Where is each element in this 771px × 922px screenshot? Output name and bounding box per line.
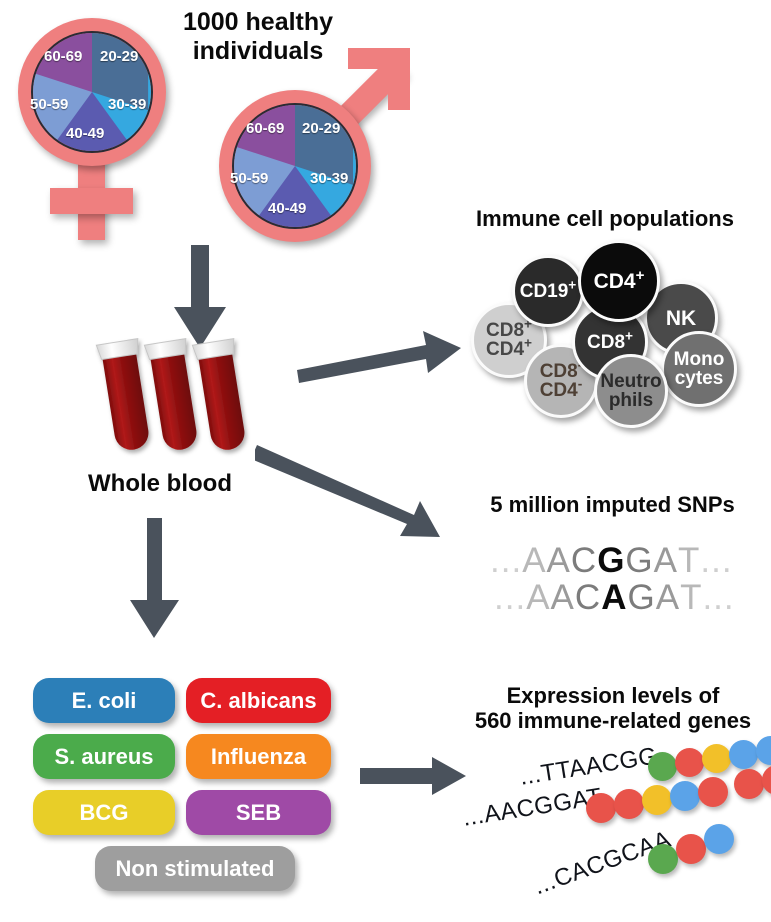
female-symbol: 20-29 30-39 40-49 50-59 60-69 [8, 10, 198, 240]
age-label-20-29: 20-29 [100, 48, 138, 65]
whole-blood-label: Whole blood [60, 470, 260, 498]
snp-base: A [656, 578, 680, 618]
snp-base: A [522, 541, 546, 581]
age-label-60-69: 60-69 [44, 48, 82, 65]
snp-base: A [551, 578, 575, 618]
snp-variant-base: G [597, 541, 625, 581]
immune-title: Immune cell populations [455, 206, 755, 231]
immune-cell-neutrophils: Neutrophils [594, 354, 668, 428]
stimulus-influenza[interactable]: Influenza [186, 734, 331, 779]
arrow-stimuli-to-genes [360, 755, 470, 797]
immune-cell-label: Monocytes [674, 350, 725, 388]
age-label-50-59: 50-59 [230, 170, 268, 187]
immune-cell-label: CD19+ [520, 282, 577, 301]
stimulus-label: SEB [236, 800, 281, 826]
snp-base: T [680, 578, 702, 618]
snp-variant-base: A [601, 578, 627, 618]
stimulus-s-aureus[interactable]: S. aureus [33, 734, 175, 779]
immune-cell-monocytes: Monocytes [661, 331, 737, 407]
snp-base: A [547, 541, 571, 581]
immune-cell-label: CD4+ [594, 271, 645, 292]
age-label-20-29: 20-29 [302, 120, 340, 137]
expression-title: Expression levels of 560 immune-related … [463, 683, 763, 734]
snp-base: ... [702, 578, 734, 618]
gene-dot [614, 789, 644, 819]
figure-canvas: 1000 healthy individuals 20-29 30-39 40-… [0, 0, 771, 922]
snp-base: G [627, 578, 655, 618]
snp-base: A [654, 541, 678, 581]
immune-cell-label: CD8+ [587, 333, 633, 352]
gene-sequence: ...AACGGAT [461, 783, 604, 833]
stimulus-label: BCG [80, 800, 129, 826]
stimulus-label: E. coli [72, 688, 137, 714]
male-symbol: 20-29 30-39 40-49 50-59 60-69 [196, 40, 416, 255]
gene-dot [734, 769, 764, 799]
age-label-40-49: 40-49 [268, 200, 306, 217]
venus-crossbar [50, 188, 133, 214]
gene-dot [670, 781, 700, 811]
snp-base: ... [494, 578, 526, 618]
age-label-50-59: 50-59 [30, 96, 68, 113]
immune-cell-label: NK [666, 308, 696, 329]
stimulus-label: Influenza [211, 744, 306, 770]
snp-title: 5 million imputed SNPs [470, 492, 755, 517]
snp-base: ... [700, 541, 732, 581]
stimulus-non-stimulated[interactable]: Non stimulated [95, 846, 295, 891]
arrow-cohort-to-blood [165, 245, 235, 350]
stimulus-bcg[interactable]: BCG [33, 790, 175, 835]
stimulus-e-coli[interactable]: E. coli [33, 678, 175, 723]
expression-title-line1: Expression levels of [507, 683, 720, 708]
gene-dot [676, 834, 706, 864]
gene-dot [586, 793, 616, 823]
immune-cell-label: CD8+CD4+ [486, 321, 532, 359]
gene-dot [702, 744, 731, 773]
gene-dot [762, 765, 771, 795]
gene-dot [648, 752, 677, 781]
arrow-blood-to-stimuli [120, 518, 190, 640]
gene-dot [642, 785, 672, 815]
gene-dot [756, 736, 771, 765]
stimulus-c-albicans[interactable]: C. albicans [186, 678, 331, 723]
age-label-30-39: 30-39 [108, 96, 146, 113]
age-label-30-39: 30-39 [310, 170, 348, 187]
stimulus-label: C. albicans [200, 688, 316, 714]
snp-base: C [571, 541, 597, 581]
snp-base: G [625, 541, 653, 581]
age-label-60-69: 60-69 [246, 120, 284, 137]
snp-base: A [526, 578, 550, 618]
snp-sequence-bottom: ...AACAGAT... [494, 578, 735, 618]
age-label-40-49: 40-49 [66, 125, 104, 142]
arrow-blood-to-immune [295, 325, 463, 385]
stimulus-label: S. aureus [54, 744, 153, 770]
stimulus-seb[interactable]: SEB [186, 790, 331, 835]
snp-base: ... [490, 541, 522, 581]
immune-cell-cd19pos: CD19+ [512, 255, 584, 327]
snp-base: C [575, 578, 601, 618]
immune-cell-cd4pos: CD4+ [578, 240, 660, 322]
blood-tubes [95, 338, 265, 470]
gene-dot [729, 740, 758, 769]
immune-cell-label: Neutrophils [600, 372, 661, 410]
snp-base: T [678, 541, 700, 581]
arrow-blood-to-snp [255, 437, 455, 542]
gene-dot [698, 777, 728, 807]
gene-dot [704, 824, 734, 854]
mars-arrowhead [348, 48, 410, 110]
snp-sequence-top: ...AACGGAT... [490, 541, 733, 581]
gene-dot [675, 748, 704, 777]
immune-cell-label: CD8-CD4- [540, 362, 583, 400]
gene-dot [648, 844, 678, 874]
stimulus-label: Non stimulated [116, 856, 275, 882]
expression-title-line2: 560 immune-related genes [475, 708, 751, 733]
